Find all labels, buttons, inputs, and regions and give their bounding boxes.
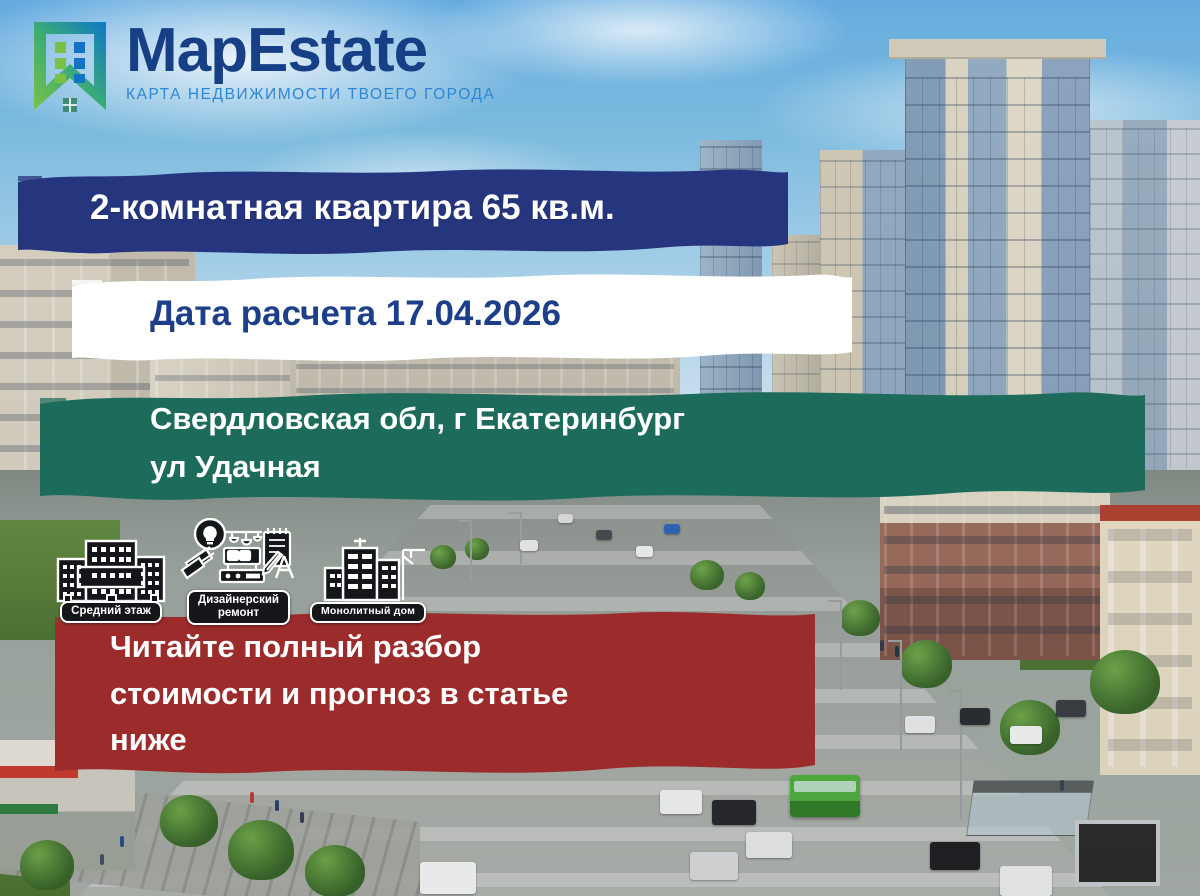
brand-logo[interactable]: MapEstate КАРТА НЕДВИЖИМОСТИ ТВОЕГО ГОРО… [28, 18, 495, 116]
badge-label: Средний этаж [60, 601, 162, 623]
building-floors-icon [52, 535, 170, 607]
calculation-date-banner: Дата расчета 17.04.2026 [72, 266, 852, 362]
cta-banner[interactable]: Читайте полный разбор стоимости и прогно… [55, 605, 815, 783]
badge-label: Монолитный дом [310, 602, 426, 623]
brand-wordmark: MapEstate КАРТА НЕДВИЖИМОСТИ ТВОЕГО ГОРО… [126, 18, 495, 104]
monolithic-house-icon [307, 534, 429, 608]
bookmark-building-icon [28, 18, 112, 116]
property-promo-poster: MapEstate КАРТА НЕДВИЖИМОСТИ ТВОЕГО ГОРО… [0, 0, 1200, 896]
badge-middle-floor[interactable]: Средний этаж [52, 535, 170, 623]
calculation-date-text: Дата расчета 17.04.2026 [150, 294, 561, 334]
badge-monolithic-house[interactable]: Монолитный дом [307, 534, 429, 623]
property-banner-text: 2-комнатная квартира 65 кв.м. [90, 188, 615, 228]
design-renovation-icon [176, 518, 301, 596]
address-banner-text: Свердловская обл, г Екатеринбург ул Удач… [150, 395, 685, 491]
feature-badges: Средний этаж [52, 518, 429, 623]
badge-designer-renovation[interactable]: Дизайнерский ремонт [176, 518, 301, 625]
cta-banner-text: Читайте полный разбор стоимости и прогно… [110, 624, 568, 764]
brand-tagline: КАРТА НЕДВИЖИМОСТИ ТВОЕГО ГОРОДА [126, 86, 495, 104]
brand-name: MapEstate [126, 22, 495, 81]
property-banner: 2-комнатная квартира 65 кв.м. [18, 160, 788, 256]
badge-label: Дизайнерский ремонт [187, 590, 290, 625]
address-banner: Свердловская обл, г Екатеринбург ул Удач… [40, 380, 1145, 506]
